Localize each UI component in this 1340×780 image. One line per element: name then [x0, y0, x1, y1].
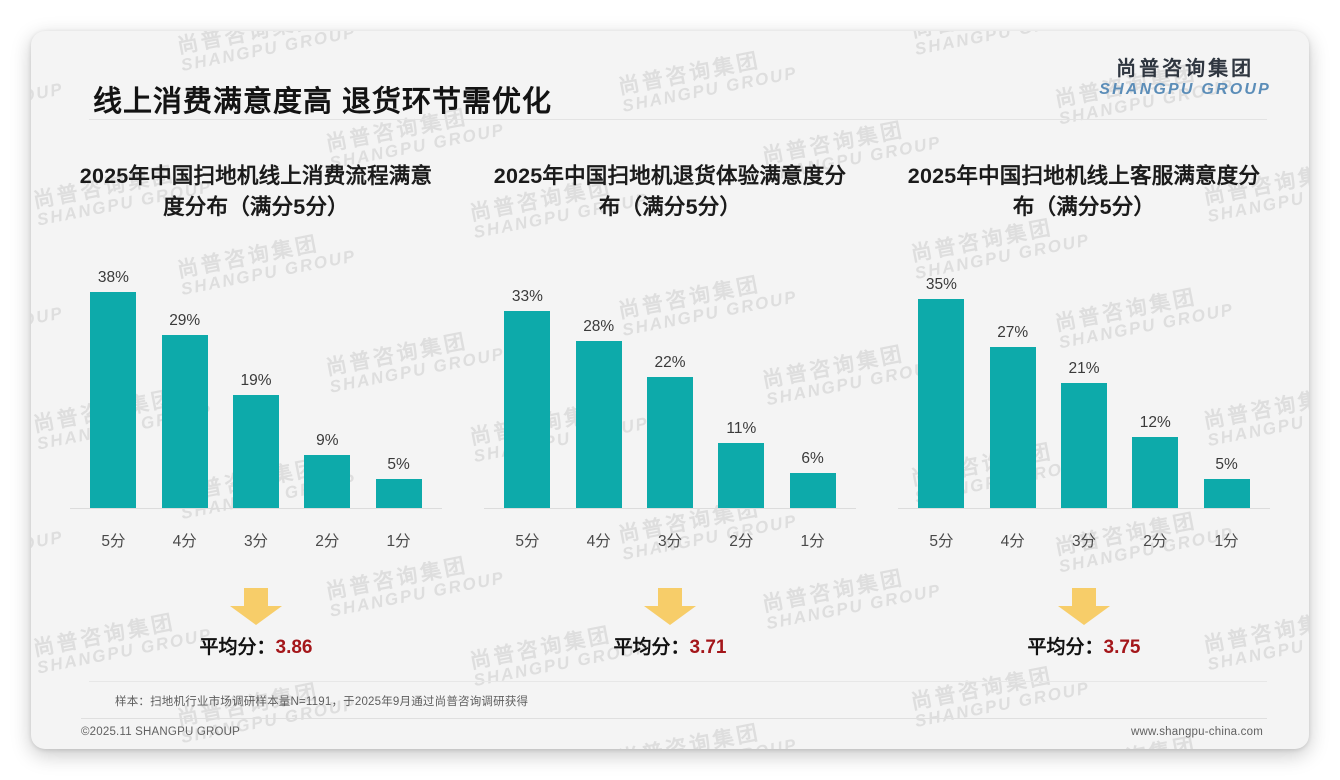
x-axis-line [898, 508, 1271, 509]
bar[interactable] [233, 395, 279, 509]
down-arrow-icon [226, 586, 286, 626]
page-title: 线上消费满意度高 退货环节需优化 [93, 78, 552, 120]
chart-panel-1: 2025年中国扫地机线上消费流程满意度分布（满分5分）38%29%19%9%5%… [49, 161, 463, 671]
bar-value-label: 5% [387, 456, 409, 474]
x-axis-line [70, 508, 443, 509]
average-score-text: 平均分：3.86 [49, 632, 463, 659]
average-score-block: 平均分：3.75 [877, 586, 1291, 659]
x-tick-label: 5分 [910, 529, 973, 551]
bar[interactable] [1132, 437, 1178, 509]
bar-value-label: 21% [1068, 360, 1099, 378]
bar[interactable] [376, 479, 422, 509]
bar-value-label: 19% [240, 372, 271, 390]
bar[interactable] [504, 311, 550, 509]
bar-column[interactable]: 38% [82, 269, 145, 509]
bar[interactable] [718, 443, 764, 509]
x-tick-label: 3分 [225, 529, 288, 551]
bar-value-label: 27% [997, 324, 1028, 342]
slide-header: 线上消费满意度高 退货环节需优化 尚普咨询集团 SHANGPU GROUP [31, 31, 1309, 119]
plot-area: 33%28%22%11%6% [496, 269, 844, 509]
bar-column[interactable]: 33% [496, 269, 559, 509]
slide: 尚普咨询集团SHANGPU GROUP尚普咨询集团SHANGPU GROUP尚普… [31, 31, 1309, 749]
average-score-block: 平均分：3.86 [49, 586, 463, 659]
bar-value-label: 33% [512, 288, 543, 306]
bar-value-label: 9% [316, 432, 338, 450]
x-axis-labels: 5分4分3分2分1分 [910, 529, 1258, 551]
bar-column[interactable]: 22% [639, 269, 702, 509]
bar-column[interactable]: 19% [225, 269, 288, 509]
bar[interactable] [1061, 383, 1107, 509]
bar-chart: 38%29%19%9%5%5分4分3分2分1分 [49, 269, 463, 569]
bar-column[interactable]: 29% [153, 269, 216, 509]
logo-english-text: SHANGPU GROUP [1099, 82, 1271, 99]
footnote-divider [89, 681, 1267, 682]
x-tick-label: 4分 [981, 529, 1044, 551]
bar-column[interactable]: 12% [1124, 269, 1187, 509]
bar-column[interactable]: 11% [710, 269, 773, 509]
bar[interactable] [576, 341, 622, 509]
average-score-label: 平均分： [200, 637, 276, 658]
bar[interactable] [990, 347, 1036, 509]
x-axis-labels: 5分4分3分2分1分 [82, 529, 430, 551]
x-tick-label: 2分 [710, 529, 773, 551]
x-tick-label: 5分 [496, 529, 559, 551]
bar[interactable] [918, 299, 964, 509]
slide-footer: ©2025.11 SHANGPU GROUP www.shangpu-china… [31, 724, 1309, 749]
bar-value-label: 28% [583, 318, 614, 336]
bar-column[interactable]: 5% [1195, 269, 1258, 509]
down-arrow-icon [640, 586, 700, 626]
x-tick-label: 1分 [781, 529, 844, 551]
bar-value-label: 11% [726, 420, 756, 438]
chart-title: 2025年中国扫地机退货体验满意度分布（满分5分） [492, 161, 848, 222]
company-logo: 尚普咨询集团 SHANGPU GROUP [1099, 59, 1271, 99]
bar-value-label: 35% [926, 276, 957, 294]
bar-column[interactable]: 28% [567, 269, 630, 509]
x-tick-label: 2分 [296, 529, 359, 551]
bar-column[interactable]: 21% [1053, 269, 1116, 509]
bar[interactable] [790, 473, 836, 509]
chart-title: 2025年中国扫地机线上客服满意度分布（满分5分） [906, 161, 1262, 222]
bar-value-label: 22% [654, 354, 685, 372]
average-score-text: 平均分：3.71 [463, 632, 877, 659]
bar-value-label: 12% [1140, 414, 1171, 432]
average-score-value: 3.75 [1104, 637, 1141, 658]
x-tick-label: 5分 [82, 529, 145, 551]
average-score-value: 3.86 [276, 637, 313, 658]
bar-chart: 33%28%22%11%6%5分4分3分2分1分 [463, 269, 877, 569]
header-divider [89, 119, 1267, 120]
down-arrow-icon [1054, 586, 1114, 626]
bar[interactable] [162, 335, 208, 509]
website-link[interactable]: www.shangpu-china.com [1131, 726, 1263, 738]
bar-value-label: 6% [801, 450, 823, 468]
bar-value-label: 5% [1215, 456, 1237, 474]
bar[interactable] [90, 292, 136, 509]
x-axis-line [484, 508, 857, 509]
average-score-value: 3.71 [690, 637, 727, 658]
average-score-text: 平均分：3.75 [877, 632, 1291, 659]
average-score-block: 平均分：3.71 [463, 586, 877, 659]
x-tick-label: 4分 [567, 529, 630, 551]
bar-column[interactable]: 27% [981, 269, 1044, 509]
bar-chart: 35%27%21%12%5%5分4分3分2分1分 [877, 269, 1291, 569]
average-score-label: 平均分： [614, 637, 690, 658]
chart-title: 2025年中国扫地机线上消费流程满意度分布（满分5分） [78, 161, 434, 222]
bar-column[interactable]: 9% [296, 269, 359, 509]
bar-column[interactable]: 5% [367, 269, 430, 509]
x-tick-label: 1分 [1195, 529, 1258, 551]
bar[interactable] [1204, 479, 1250, 509]
bar[interactable] [647, 377, 693, 509]
logo-chinese-text: 尚普咨询集团 [1099, 59, 1271, 80]
copyright-text: ©2025.11 SHANGPU GROUP [81, 726, 240, 738]
footer-divider [81, 718, 1267, 719]
x-tick-label: 3分 [1053, 529, 1116, 551]
sample-footnote: 样本：扫地机行业市场调研样本量N=1191，于2025年9月通过尚普咨询调研获得 [115, 693, 528, 709]
x-tick-label: 4分 [153, 529, 216, 551]
chart-panel-3: 2025年中国扫地机线上客服满意度分布（满分5分）35%27%21%12%5%5… [877, 161, 1291, 671]
bar-value-label: 29% [169, 312, 200, 330]
x-tick-label: 3分 [639, 529, 702, 551]
bar[interactable] [304, 455, 350, 509]
plot-area: 35%27%21%12%5% [910, 269, 1258, 509]
bar-column[interactable]: 6% [781, 269, 844, 509]
average-score-label: 平均分： [1028, 637, 1104, 658]
bar-value-label: 38% [98, 269, 129, 287]
plot-area: 38%29%19%9%5% [82, 269, 430, 509]
bar-column[interactable]: 35% [910, 269, 973, 509]
x-tick-label: 2分 [1124, 529, 1187, 551]
x-tick-label: 1分 [367, 529, 430, 551]
chart-panels: 2025年中国扫地机线上消费流程满意度分布（满分5分）38%29%19%9%5%… [49, 161, 1291, 671]
chart-panel-2: 2025年中国扫地机退货体验满意度分布（满分5分）33%28%22%11%6%5… [463, 161, 877, 671]
x-axis-labels: 5分4分3分2分1分 [496, 529, 844, 551]
